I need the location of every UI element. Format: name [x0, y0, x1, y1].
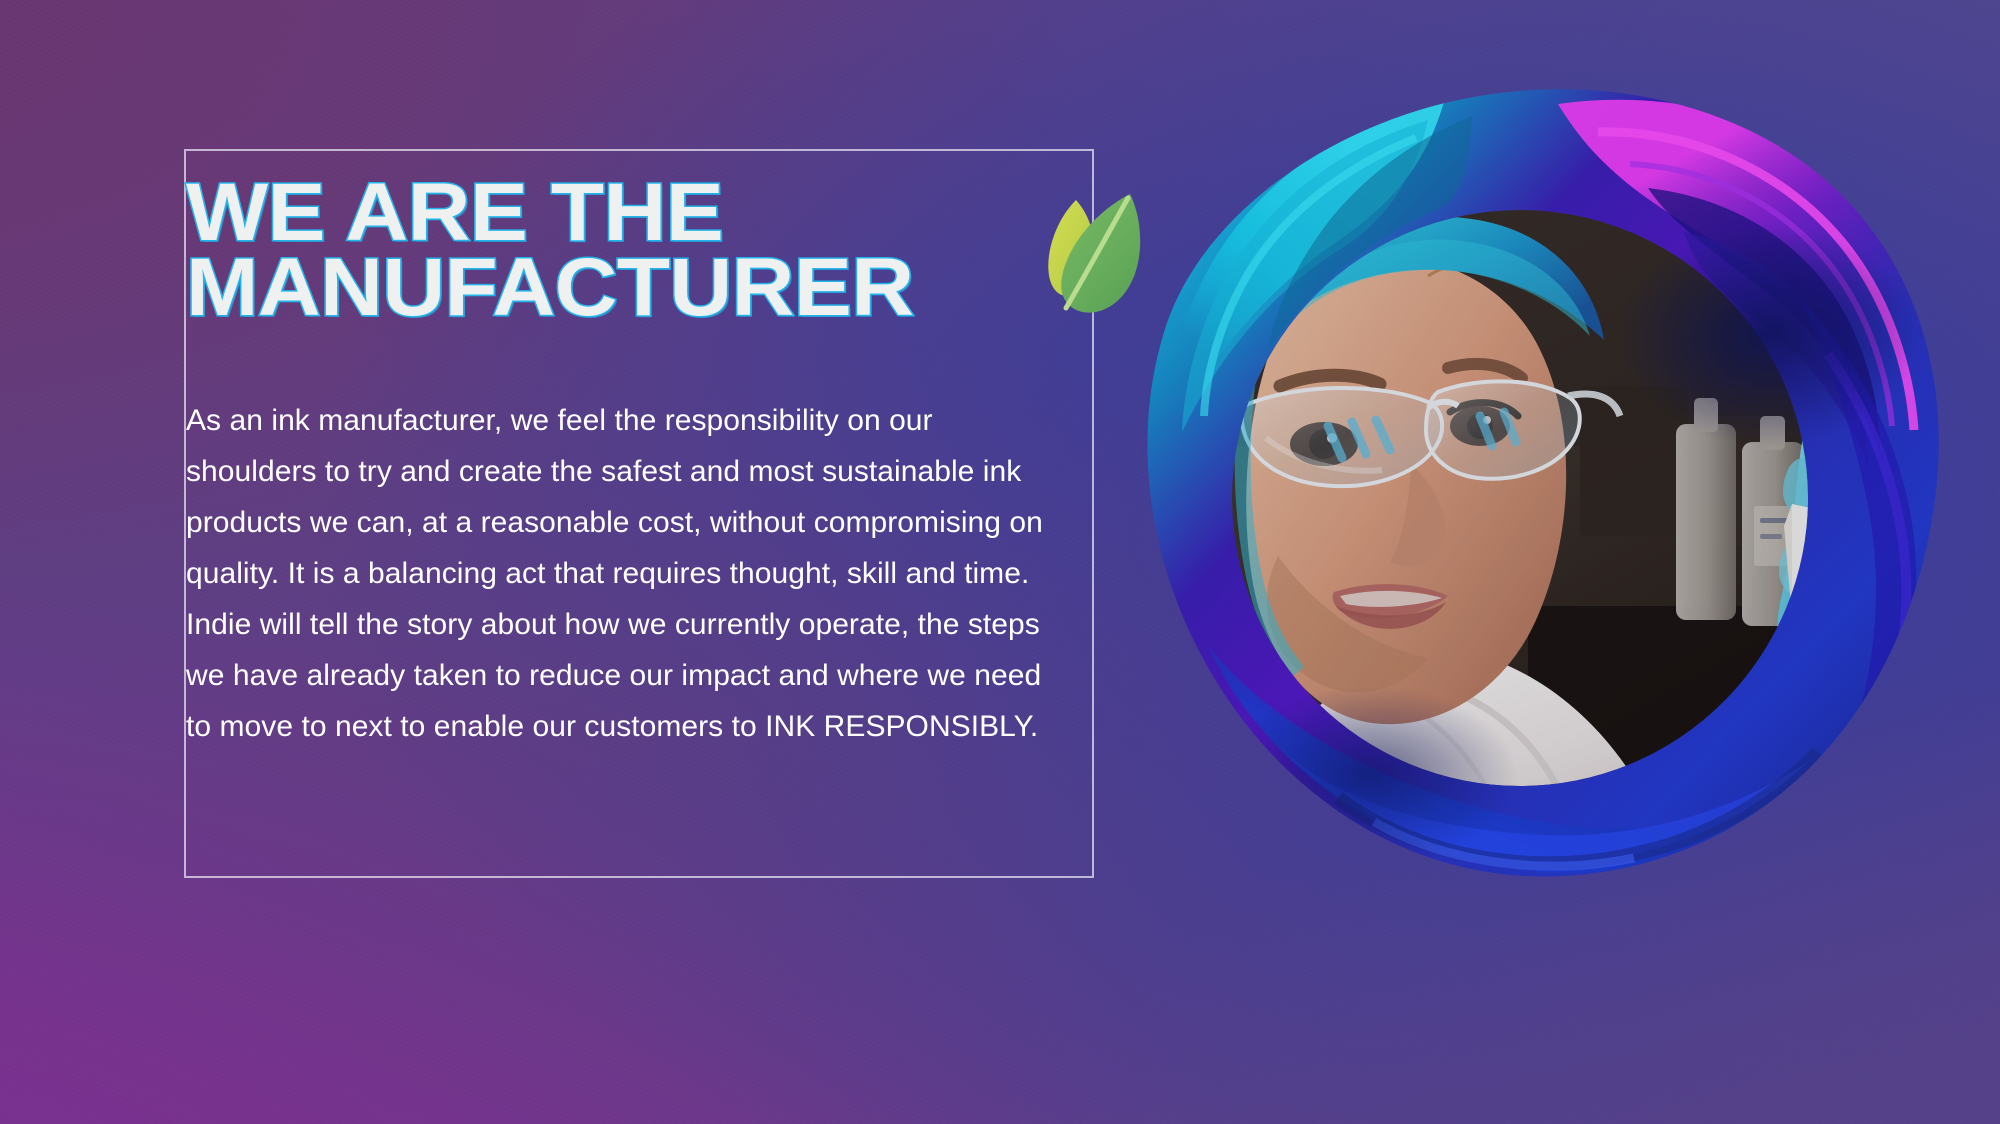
page-title: WE ARE THE MANUFACTURER: [186, 175, 1182, 326]
two-leaves-icon: [1044, 182, 1152, 332]
body-paragraph: As an ink manufacturer, we feel the resp…: [186, 395, 1058, 752]
ink-blob-frame: [1128, 86, 1948, 916]
lab-technician-photo: [1128, 86, 1948, 916]
slide-canvas: WE ARE THE MANUFACTURER As an ink manufa…: [0, 0, 2000, 1124]
